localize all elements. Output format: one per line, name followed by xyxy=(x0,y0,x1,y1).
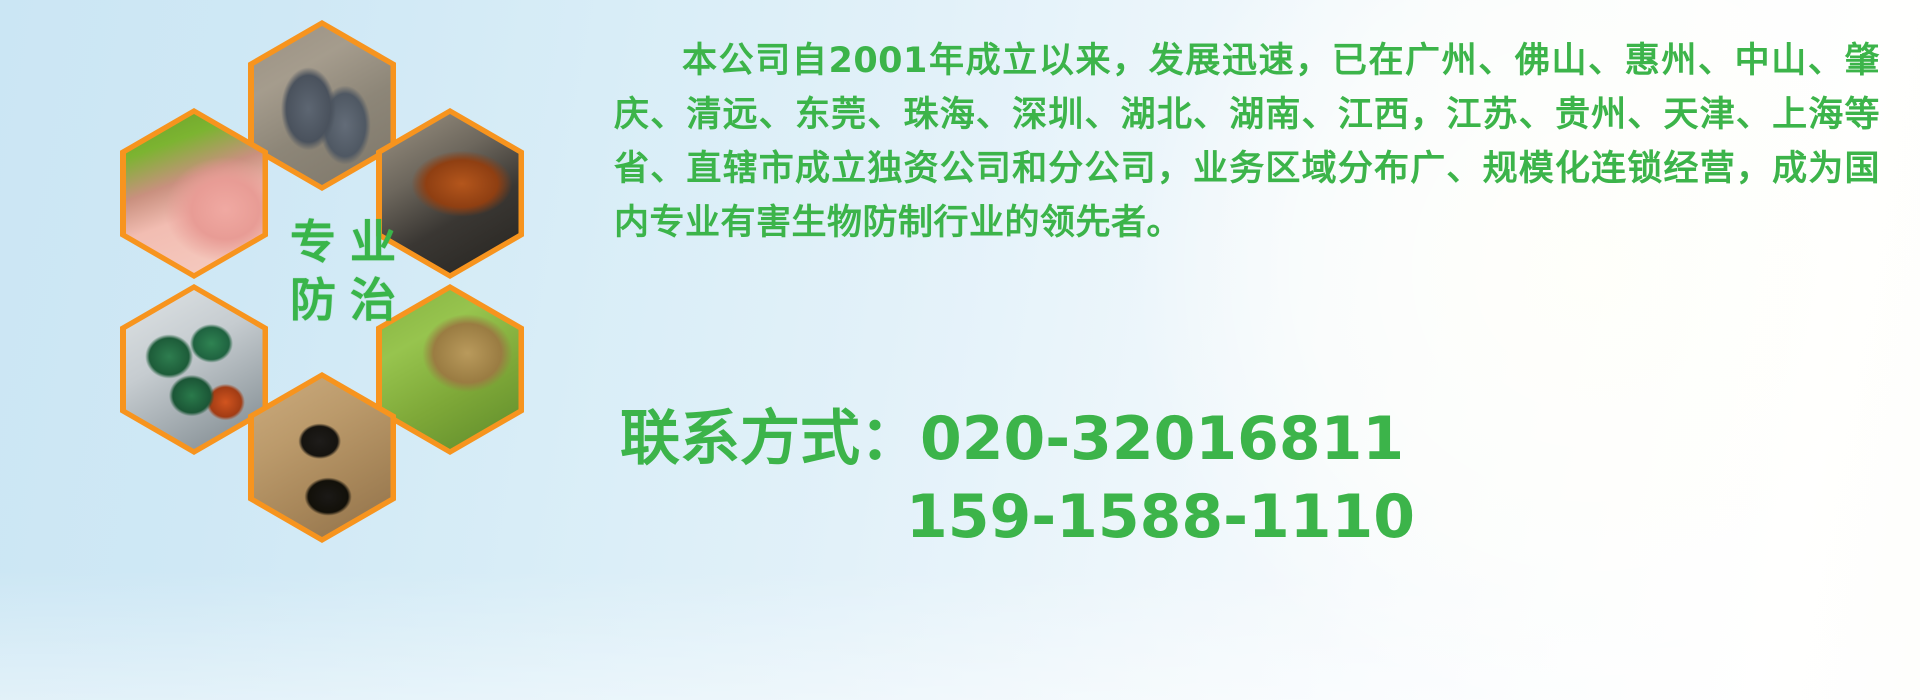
contact-line-landline[interactable]: 联系方式：020-32016811 xyxy=(620,400,1720,478)
hex-border xyxy=(248,196,396,367)
intro-paragraph: 本公司自2001年成立以来，发展迅速，已在广州、佛山、惠州、中山、肇庆、清远、东… xyxy=(614,34,1880,250)
hex-border xyxy=(248,372,396,543)
hex-photo-frame xyxy=(254,378,391,537)
hex-photo-frame xyxy=(126,290,263,449)
hex-border xyxy=(376,284,524,455)
hex-border xyxy=(120,108,268,279)
hex-border xyxy=(248,20,396,191)
dead-rats-image xyxy=(254,26,391,185)
hex-cell-flies[interactable] xyxy=(120,284,268,455)
contact-block: 联系方式：020-32016811 159-1588-1110 xyxy=(620,400,1720,556)
hex-photo-frame xyxy=(254,26,391,185)
hex-photo-frame xyxy=(382,290,519,449)
honeycomb-collage: 专业 防治 xyxy=(0,0,640,700)
flies-image xyxy=(126,290,263,449)
contact-line-mobile[interactable]: 159-1588-1110 xyxy=(620,478,1720,556)
hex-cell-mosquito[interactable] xyxy=(120,108,268,279)
hex-cell-dead-rats[interactable] xyxy=(248,20,396,191)
hex-photo-frame xyxy=(254,202,391,361)
hex-cell-center-label xyxy=(248,196,396,367)
hex-cell-ant[interactable] xyxy=(248,372,396,543)
company-intro: 本公司自2001年成立以来，发展迅速，已在广州、佛山、惠州、中山、肇庆、清远、东… xyxy=(614,34,1880,250)
mosquito-image xyxy=(126,114,263,273)
hex-border xyxy=(120,284,268,455)
hex-cell-stink-bug[interactable] xyxy=(376,284,524,455)
hex-photo-frame xyxy=(382,114,519,273)
promo-banner: 专业 防治 本公司自2001年成立以来，发展迅速，已在广州、佛山、惠州、中山、肇… xyxy=(0,0,1920,700)
cockroach-image xyxy=(382,114,519,273)
hex-cell-cockroach[interactable] xyxy=(376,108,524,279)
ant-image xyxy=(254,378,391,537)
hex-photo-frame xyxy=(126,114,263,273)
stink-bug-image xyxy=(382,290,519,449)
hex-border xyxy=(376,108,524,279)
